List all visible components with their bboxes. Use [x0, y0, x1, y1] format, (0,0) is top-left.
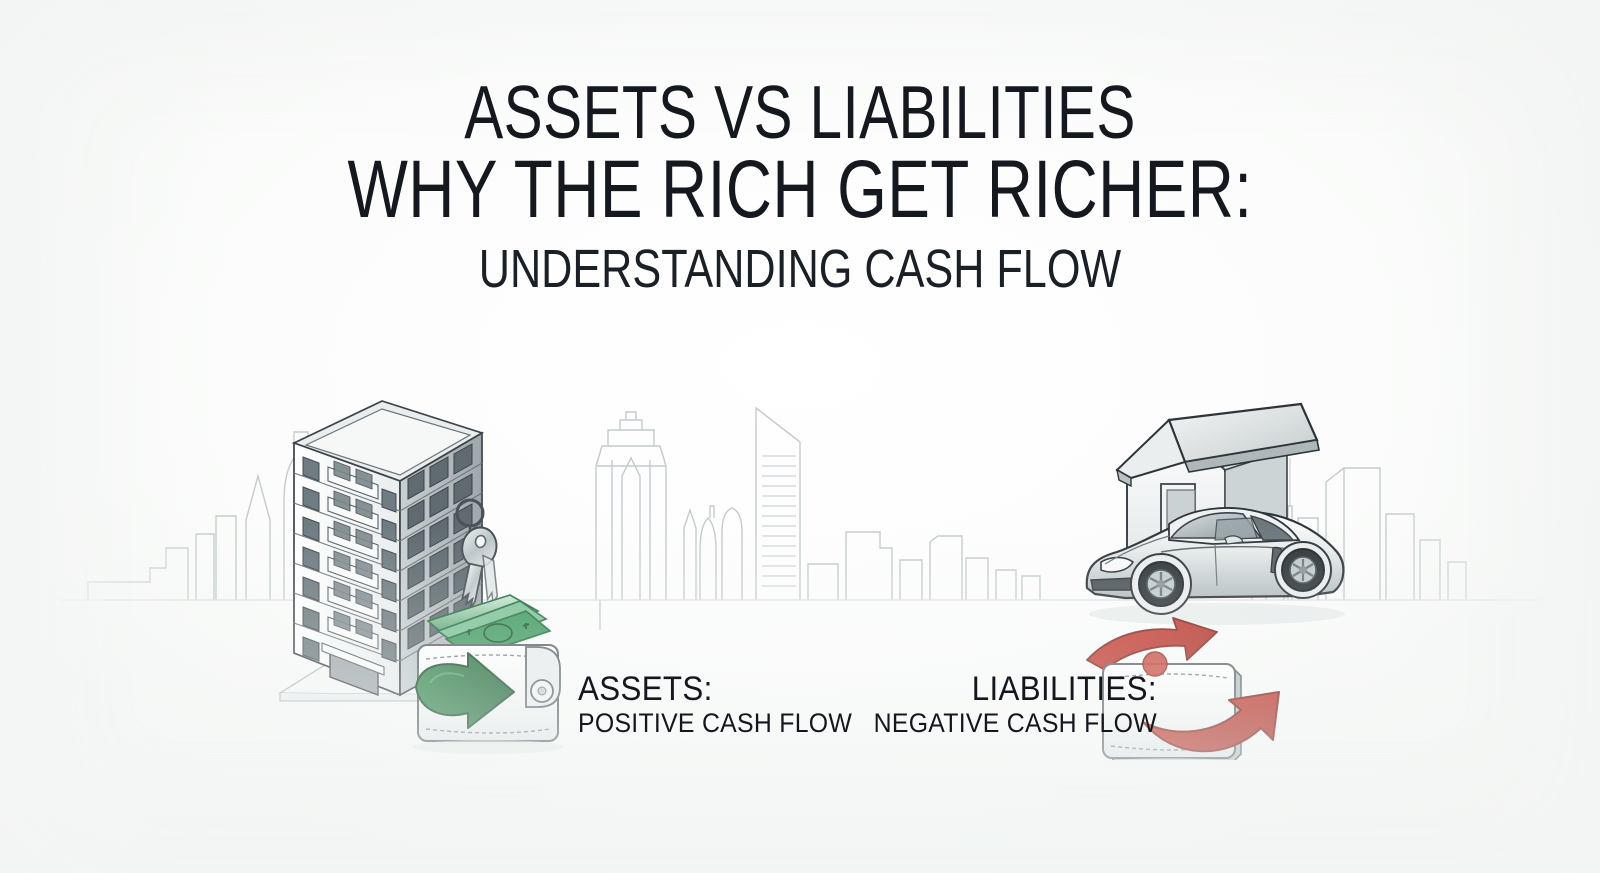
title-subtitle: UNDERSTANDING CASH FLOW	[160, 242, 1440, 296]
assets-label-group: ASSETS: POSITIVE CASH FLOW	[578, 672, 876, 737]
liabilities-label-group: LIABILITIES: NEGATIVE CASH FLOW	[849, 672, 1157, 737]
liabilities-subheading: NEGATIVE CASH FLOW	[874, 709, 1157, 737]
assets-heading: ASSETS:	[578, 672, 852, 707]
page-title: ASSETS VS LIABILITIES WHY THE RICH GET R…	[0, 78, 1600, 296]
liabilities-heading: LIABILITIES:	[874, 672, 1157, 707]
assets-illustration	[270, 395, 600, 765]
assets-subheading: POSITIVE CASH FLOW	[578, 709, 852, 737]
sports-car-icon	[1087, 508, 1345, 625]
title-line-2: WHY THE RICH GET RICHER:	[176, 152, 1424, 228]
poster-canvas: ASSETS VS LIABILITIES WHY THE RICH GET R…	[0, 0, 1600, 873]
title-line-1: ASSETS VS LIABILITIES	[176, 78, 1424, 148]
